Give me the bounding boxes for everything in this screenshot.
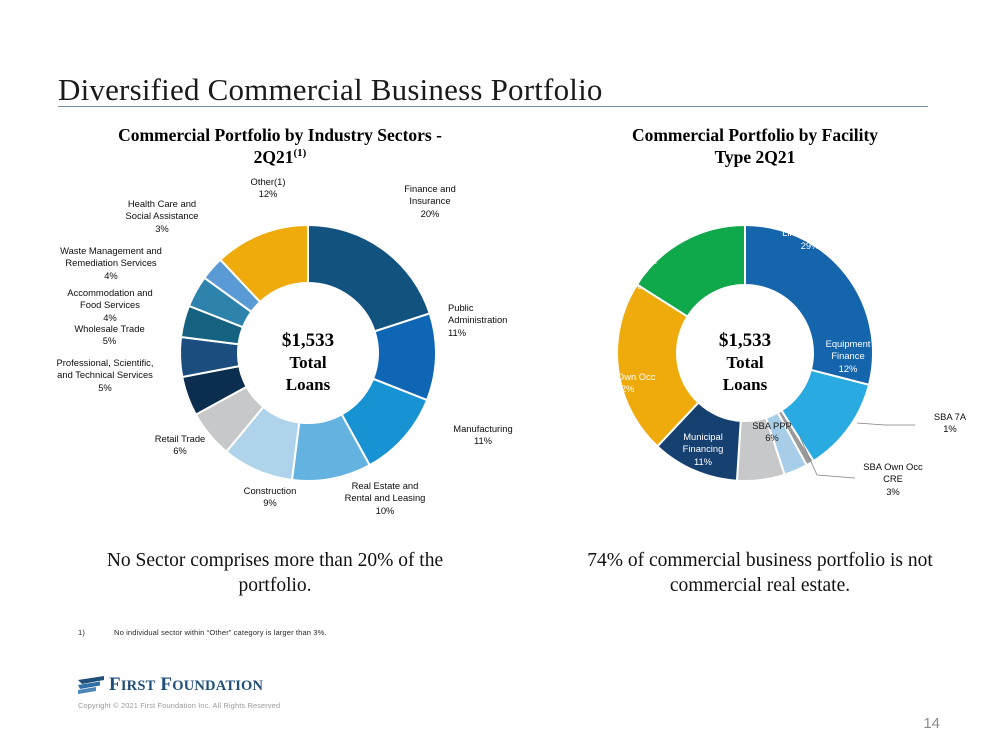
donut-center-label-line: $1,533	[282, 330, 334, 351]
pie-slice-label: Commercial Term 16%	[587, 255, 677, 292]
pie-slice-label: Municipal Financing 11%	[663, 431, 743, 468]
first-foundation-wordmark: FIRST FOUNDATION	[109, 674, 263, 696]
pie-slice-label: CRE Own Occ 22%	[575, 371, 675, 396]
left-chart-caption: No Sector comprises more than 20% of the…	[95, 548, 455, 599]
left-heading-line2: 2Q21	[254, 147, 294, 167]
logo-text-f2: F	[160, 674, 172, 695]
pie-slice-label: Equipment Finance 12%	[803, 338, 893, 375]
title-divider	[58, 106, 928, 107]
pie-slice-label: Wholesale Trade 5%	[52, 323, 167, 348]
facility-type-donut-chart: $1,533TotalLoansCommercial Line of Credi…	[555, 175, 975, 535]
pie-slice-label: SBA Own Occ CRE 3%	[843, 461, 943, 498]
pie-slice-label: Accommodation and Food Services 4%	[50, 287, 170, 324]
footnote-marker: 1)	[78, 628, 114, 637]
pie-slice-label: SBA 7A 1%	[920, 411, 980, 436]
pie-slice-label: Manufacturing 11%	[428, 423, 538, 448]
pie-slice-label: Health Care and Social Assistance 3%	[102, 198, 222, 235]
page-title: Diversified Commercial Business Portfoli…	[58, 72, 603, 108]
donut-center-label-line: Loans	[723, 375, 768, 394]
left-heading-superscript: (1)	[294, 148, 307, 160]
footnote-text: No individual sector within “Other” cate…	[114, 628, 327, 637]
right-heading-line1: Commercial Portfolio by Facility	[632, 125, 878, 145]
pie-slice-label: Professional, Scientific, and Technical …	[40, 357, 170, 394]
label-leader-line	[857, 423, 915, 425]
right-chart-caption: 74% of commercial business portfolio is …	[565, 548, 955, 599]
logo-text-oundation: OUNDATION	[172, 678, 263, 694]
pie-slice-label: Retail Trade 6%	[135, 433, 225, 458]
pie-slice-label: Public Administration 11%	[448, 302, 558, 339]
pie-slice-label: Other(1) 12%	[218, 176, 318, 201]
donut-center-label-line: Total	[289, 353, 326, 372]
copyright-text: Copyright © 2021 First Foundation Inc. A…	[78, 701, 280, 710]
donut-center-label-line: $1,533	[719, 330, 771, 351]
right-chart-heading: Commercial Portfolio by Facility Type 2Q…	[565, 124, 945, 169]
pie-slice-label: Construction 9%	[220, 485, 320, 510]
logo-text-f1: F	[109, 674, 121, 695]
first-foundation-logo-icon	[78, 676, 104, 695]
logo-text-irst: IRST	[121, 678, 156, 694]
pie-slice-label: Waste Management and Remediation Service…	[46, 245, 176, 282]
footnote: 1)No individual sector within “Other” ca…	[78, 628, 327, 637]
left-heading-line1: Commercial Portfolio by Industry Sectors…	[118, 125, 442, 145]
donut-center-label-line: Total	[726, 353, 763, 372]
footer-logo-block: FIRST FOUNDATION Copyright © 2021 First …	[78, 674, 280, 710]
page-number: 14	[923, 715, 940, 732]
pie-slice-label: Commercial Line of Credit 29%	[755, 215, 865, 252]
pie-slice[interactable]	[308, 225, 430, 331]
left-chart-heading: Commercial Portfolio by Industry Sectors…	[70, 124, 490, 169]
right-heading-line2: Type 2Q21	[715, 147, 796, 167]
pie-slice-label: Finance and Insurance 20%	[370, 183, 490, 220]
industry-sectors-donut-chart: $1,533TotalLoansFinance and Insurance 20…	[40, 175, 540, 535]
pie-slice-label: SBA PPP 6%	[737, 420, 807, 445]
donut-center-label-line: Loans	[286, 375, 331, 394]
pie-slice-label: Real Estate and Rental and Leasing 10%	[320, 480, 450, 517]
